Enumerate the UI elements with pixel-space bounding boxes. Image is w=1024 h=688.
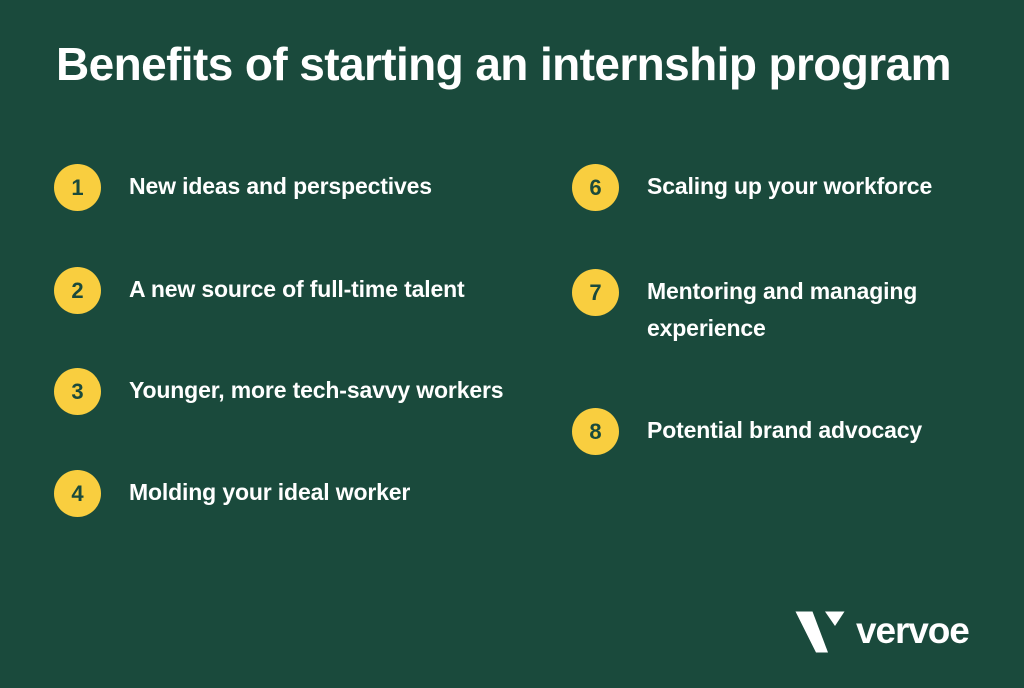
list-item: 2 A new source of full-time talent (54, 267, 465, 314)
list-item-label: A new source of full-time talent (129, 267, 465, 308)
list-item: 8 Potential brand advocacy (572, 408, 922, 455)
list-item: 4 Molding your ideal worker (54, 470, 410, 517)
list-item: 3 Younger, more tech-savvy workers (54, 368, 503, 415)
list-item-label: Potential brand advocacy (647, 408, 922, 449)
item-number-badge: 6 (572, 164, 619, 211)
item-number-badge: 1 (54, 164, 101, 211)
list-item-label: New ideas and perspectives (129, 164, 432, 205)
benefits-list: 1 New ideas and perspectives 2 A new sou… (0, 150, 1024, 570)
page-title: Benefits of starting an internship progr… (56, 40, 976, 90)
vervoe-logo: vervoe (795, 606, 985, 658)
list-item: 7 Mentoring and managing experience (572, 269, 977, 348)
vervoe-v-mark-icon (795, 611, 845, 653)
list-item: 6 Scaling up your workforce (572, 164, 932, 211)
slide-canvas: Benefits of starting an internship progr… (0, 0, 1024, 688)
list-item-label: Molding your ideal worker (129, 470, 410, 511)
vervoe-wordmark: vervoe (856, 612, 969, 652)
list-item-label: Scaling up your workforce (647, 164, 932, 205)
list-item-label: Mentoring and managing experience (647, 269, 977, 348)
item-number-badge: 3 (54, 368, 101, 415)
item-number-badge: 8 (572, 408, 619, 455)
item-number-badge: 2 (54, 267, 101, 314)
list-item: 1 New ideas and perspectives (54, 164, 432, 211)
item-number-badge: 7 (572, 269, 619, 316)
list-item-label: Younger, more tech-savvy workers (129, 368, 503, 409)
item-number-badge: 4 (54, 470, 101, 517)
